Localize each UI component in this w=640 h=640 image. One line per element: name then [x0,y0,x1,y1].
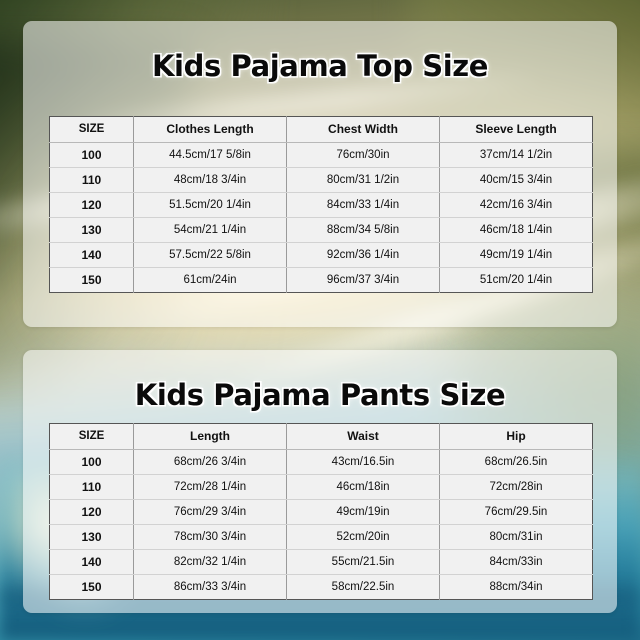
cell-sleeve-length: 51cm/20 1/4in [440,268,593,293]
cell-length: 68cm/26 3/4in [134,450,287,475]
table-row: 120 76cm/29 3/4in 49cm/19in 76cm/29.5in [50,500,593,525]
column-header-chest-width: Chest Width [287,117,440,143]
table-row: 140 82cm/32 1/4in 55cm/21.5in 84cm/33in [50,550,593,575]
cell-size: 130 [50,218,134,243]
cell-clothes-length: 54cm/21 1/4in [134,218,287,243]
table-row: 110 72cm/28 1/4in 46cm/18in 72cm/28in [50,475,593,500]
cell-length: 86cm/33 3/4in [134,575,287,600]
column-header-hip: Hip [440,424,593,450]
cell-hip: 88cm/34in [440,575,593,600]
cell-waist: 49cm/19in [287,500,440,525]
cell-size: 150 [50,268,134,293]
cell-size: 140 [50,243,134,268]
pajama-pants-title: Kids Pajama Pants Size [23,378,617,412]
pajama-top-size-card: Kids Pajama Top Size SIZE Clothes Length… [23,21,617,327]
cell-chest-width: 84cm/33 1/4in [287,193,440,218]
cell-clothes-length: 44.5cm/17 5/8in [134,143,287,168]
table-row: 130 54cm/21 1/4in 88cm/34 5/8in 46cm/18 … [50,218,593,243]
table-row: 150 86cm/33 3/4in 58cm/22.5in 88cm/34in [50,575,593,600]
cell-waist: 46cm/18in [287,475,440,500]
cell-clothes-length: 61cm/24in [134,268,287,293]
table-row: 120 51.5cm/20 1/4in 84cm/33 1/4in 42cm/1… [50,193,593,218]
cell-waist: 58cm/22.5in [287,575,440,600]
cell-hip: 72cm/28in [440,475,593,500]
cell-hip: 76cm/29.5in [440,500,593,525]
cell-clothes-length: 48cm/18 3/4in [134,168,287,193]
cell-waist: 52cm/20in [287,525,440,550]
column-header-size: SIZE [50,424,134,450]
table-row: 150 61cm/24in 96cm/37 3/4in 51cm/20 1/4i… [50,268,593,293]
column-header-size: SIZE [50,117,134,143]
cell-hip: 84cm/33in [440,550,593,575]
cell-clothes-length: 57.5cm/22 5/8in [134,243,287,268]
column-header-waist: Waist [287,424,440,450]
cell-size: 150 [50,575,134,600]
cell-hip: 68cm/26.5in [440,450,593,475]
cell-chest-width: 92cm/36 1/4in [287,243,440,268]
table-header-row: SIZE Length Waist Hip [50,424,593,450]
pajama-top-title: Kids Pajama Top Size [23,49,617,83]
cell-sleeve-length: 37cm/14 1/2in [440,143,593,168]
cell-clothes-length: 51.5cm/20 1/4in [134,193,287,218]
cell-hip: 80cm/31in [440,525,593,550]
cell-chest-width: 80cm/31 1/2in [287,168,440,193]
cell-chest-width: 88cm/34 5/8in [287,218,440,243]
table-row: 100 44.5cm/17 5/8in 76cm/30in 37cm/14 1/… [50,143,593,168]
cell-size: 100 [50,143,134,168]
table-row: 100 68cm/26 3/4in 43cm/16.5in 68cm/26.5i… [50,450,593,475]
cell-sleeve-length: 46cm/18 1/4in [440,218,593,243]
cell-size: 110 [50,475,134,500]
column-header-length: Length [134,424,287,450]
cell-length: 82cm/32 1/4in [134,550,287,575]
cell-waist: 43cm/16.5in [287,450,440,475]
pajama-pants-size-table: SIZE Length Waist Hip 100 68cm/26 3/4in … [49,423,593,600]
cell-size: 130 [50,525,134,550]
table-row: 140 57.5cm/22 5/8in 92cm/36 1/4in 49cm/1… [50,243,593,268]
cell-length: 78cm/30 3/4in [134,525,287,550]
cell-size: 120 [50,500,134,525]
pajama-pants-size-card: Kids Pajama Pants Size SIZE Length Waist… [23,350,617,613]
cell-sleeve-length: 40cm/15 3/4in [440,168,593,193]
table-header-row: SIZE Clothes Length Chest Width Sleeve L… [50,117,593,143]
column-header-clothes-length: Clothes Length [134,117,287,143]
cell-length: 72cm/28 1/4in [134,475,287,500]
cell-size: 110 [50,168,134,193]
cell-length: 76cm/29 3/4in [134,500,287,525]
column-header-sleeve-length: Sleeve Length [440,117,593,143]
cell-chest-width: 76cm/30in [287,143,440,168]
cell-size: 100 [50,450,134,475]
cell-size: 120 [50,193,134,218]
table-row: 110 48cm/18 3/4in 80cm/31 1/2in 40cm/15 … [50,168,593,193]
cell-waist: 55cm/21.5in [287,550,440,575]
cell-sleeve-length: 49cm/19 1/4in [440,243,593,268]
cell-chest-width: 96cm/37 3/4in [287,268,440,293]
cell-sleeve-length: 42cm/16 3/4in [440,193,593,218]
pajama-top-size-table: SIZE Clothes Length Chest Width Sleeve L… [49,116,593,293]
cell-size: 140 [50,550,134,575]
table-row: 130 78cm/30 3/4in 52cm/20in 80cm/31in [50,525,593,550]
